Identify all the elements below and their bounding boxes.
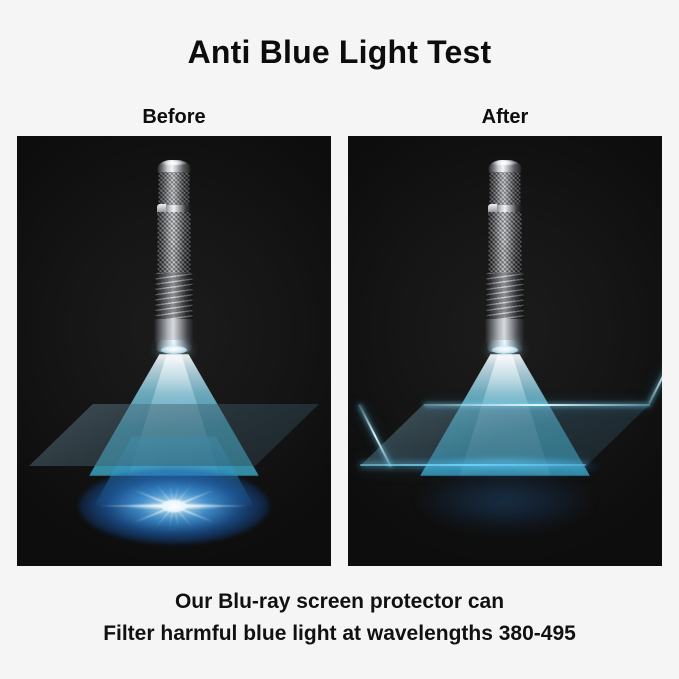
panel-after bbox=[348, 136, 662, 566]
floor-light-spot-after bbox=[421, 472, 589, 530]
flashlight-knurl-lower bbox=[158, 212, 191, 274]
protector-edge-top bbox=[424, 404, 650, 406]
flashlight-knurl-upper bbox=[490, 172, 521, 206]
page-title: Anti Blue Light Test bbox=[188, 36, 492, 68]
floor-light-spot-before bbox=[79, 468, 269, 544]
panel-before bbox=[17, 136, 331, 566]
flashlight-knurl-upper bbox=[159, 172, 190, 206]
flashlight-tailcap-highlight bbox=[493, 161, 518, 165]
light-spot-core bbox=[161, 500, 187, 513]
flashlight-knurl-lower bbox=[489, 212, 522, 274]
flashlight-lens bbox=[161, 346, 187, 354]
screen-protector-plate-after bbox=[360, 404, 650, 466]
flashlight-lens bbox=[492, 346, 518, 354]
protector-sheen bbox=[360, 404, 650, 466]
flashlight-icon bbox=[153, 160, 195, 356]
label-after: After bbox=[348, 103, 662, 131]
product-comparison-graphic: Anti Blue Light Test Before After bbox=[0, 0, 679, 679]
flashlight-grip-ribs bbox=[156, 273, 193, 321]
label-before: Before bbox=[17, 103, 331, 131]
protector-edge-right bbox=[649, 341, 662, 404]
glass-plate-sheen bbox=[29, 404, 319, 466]
glass-plate-before bbox=[29, 404, 319, 466]
caption: Our Blu-ray screen protector can Filter … bbox=[0, 586, 679, 650]
label-spacer bbox=[331, 103, 348, 131]
comparison-panels bbox=[17, 136, 662, 566]
panel-labels: Before After bbox=[17, 103, 662, 131]
caption-line-2: Filter harmful blue light at wavelengths… bbox=[0, 618, 679, 650]
flashlight-tailcap-highlight bbox=[162, 161, 187, 165]
flashlight-grip-ribs bbox=[487, 273, 524, 321]
caption-line-1: Our Blu-ray screen protector can bbox=[0, 586, 679, 618]
flashlight-icon bbox=[484, 160, 526, 356]
